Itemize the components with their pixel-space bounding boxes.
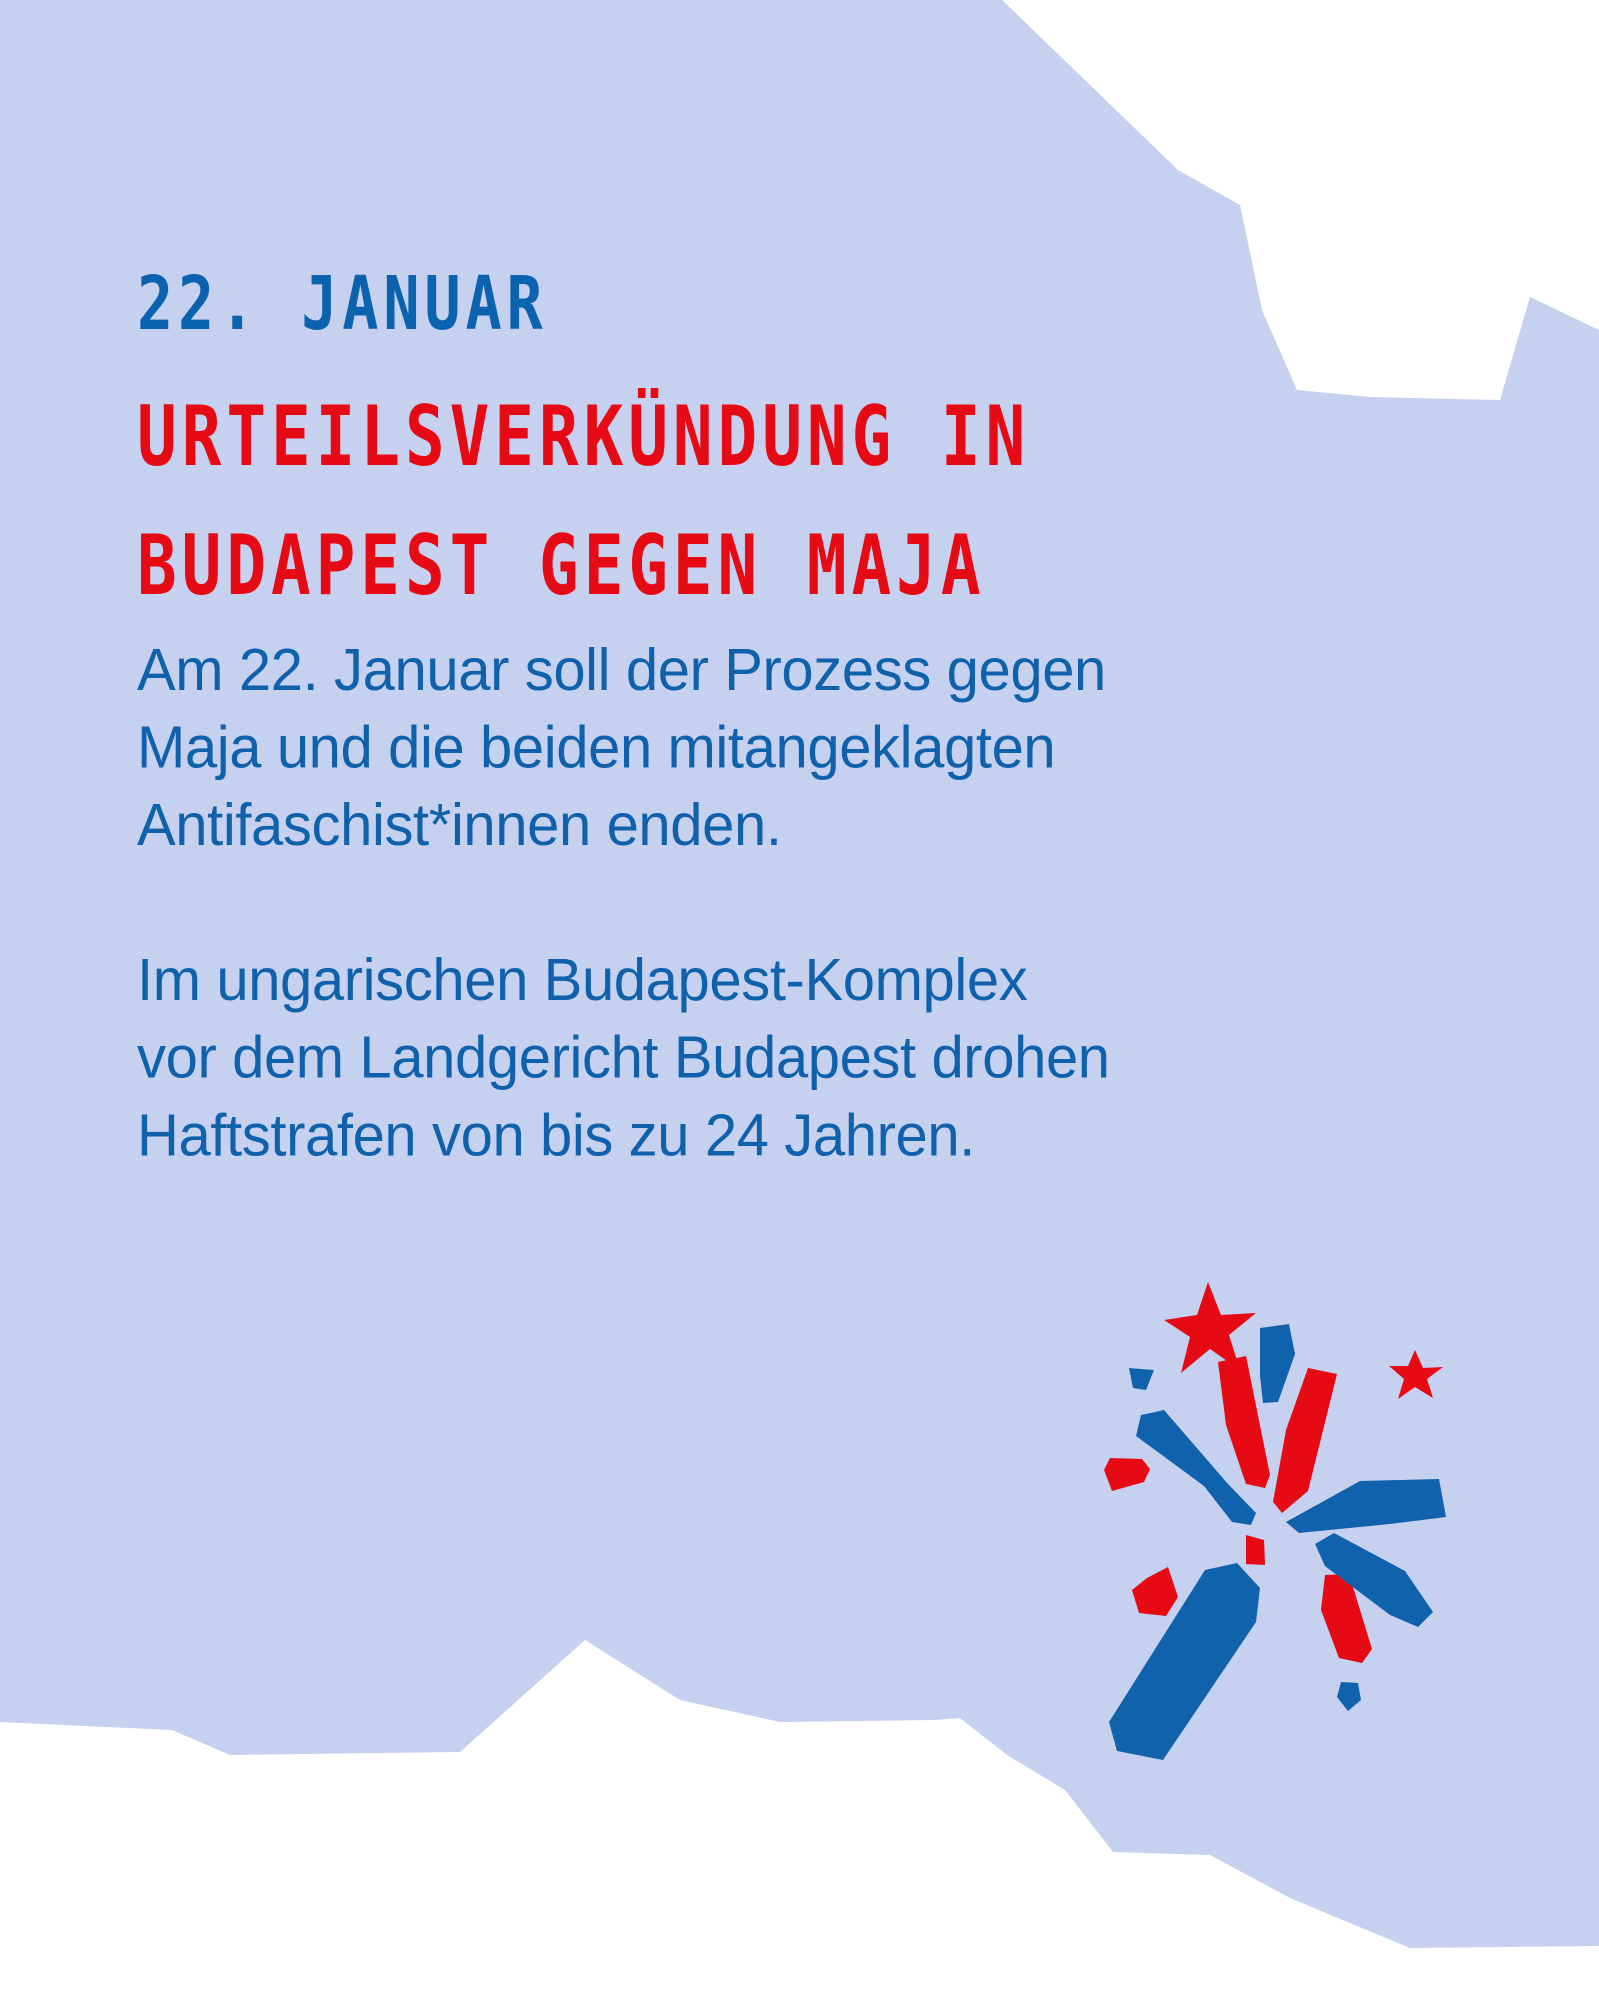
headline: URTEILSVERKÜNDUNG IN BUDAPEST GEGEN MAJA (137, 372, 1030, 630)
body-text-block: Am 22. Januar soll der Prozess gegen Maj… (137, 632, 1427, 1175)
confetti-chunk-blue-2 (1337, 1682, 1361, 1711)
streamer-blue-main (1109, 1563, 1260, 1760)
body-paragraph-1: Am 22. Januar soll der Prozess gegen Maj… (137, 632, 1427, 865)
headline-line-1: URTEILSVERKÜNDUNG IN (137, 372, 1030, 501)
confetti-chunk-blue-1 (1129, 1368, 1154, 1390)
paragraph-spacer (137, 865, 1427, 943)
confetti-burst-icon (1060, 1230, 1500, 1760)
streamer-red-2 (1273, 1368, 1337, 1513)
body-paragraph-2: Im ungarischen Budapest-Komplex vor dem … (137, 942, 1427, 1175)
headline-line-2: BUDAPEST GEGEN MAJA (137, 501, 1030, 630)
date-kicker: 22. JANUAR (137, 264, 548, 343)
confetti-chunk-red-3 (1132, 1567, 1178, 1616)
confetti-chunk-red-2 (1246, 1535, 1265, 1565)
streamer-blue-3 (1286, 1479, 1446, 1533)
confetti-chunk-red-1 (1104, 1458, 1150, 1491)
confetti-blue-pieces (1109, 1324, 1446, 1760)
star-small-icon (1389, 1350, 1443, 1399)
streamer-blue-1 (1260, 1324, 1295, 1403)
poster-canvas: 22. JANUAR URTEILSVERKÜNDUNG IN BUDAPEST… (0, 0, 1599, 2000)
